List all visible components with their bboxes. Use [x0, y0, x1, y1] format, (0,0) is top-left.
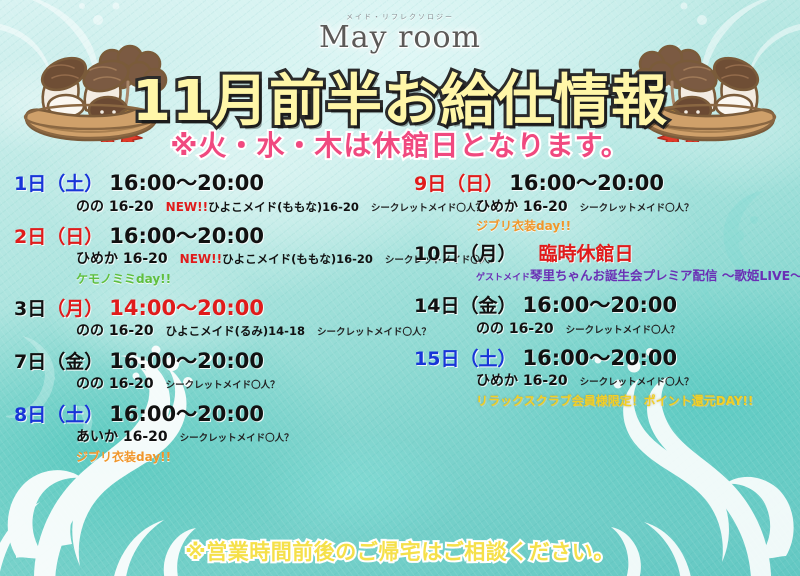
schedule-entry: 8日（土）16:00～20:00あいか 16-20シークレットメイド〇人？ジブリ…: [14, 403, 400, 465]
entry-staff-line: のの 16-20シークレットメイド〇人？: [414, 319, 800, 337]
entry-day-of-week: （土）: [46, 404, 103, 426]
secret-maid-note: シークレットメイド〇人？: [566, 325, 680, 336]
entry-hours: 16:00～20:00: [109, 349, 264, 373]
entry-day-of-week: （日）: [446, 173, 503, 195]
entry-event-note: リラックスクラブ会員様限定！ポイント還元DAY!!: [414, 392, 800, 409]
entry-event-note: ジブリ衣装day!!: [414, 217, 800, 234]
entry-maid-name: ひめか 16-20: [476, 199, 568, 215]
entry-date: 1日: [14, 173, 46, 195]
entry-date: 15日: [414, 348, 459, 370]
entry-hours: 16:00～20:00: [522, 293, 677, 317]
entry-day-of-week: （土）: [459, 348, 516, 370]
secret-maid-note: シークレットメイド〇人？: [180, 433, 294, 444]
entry-second-maid-name: ひよこメイド(ももな)16-20: [208, 200, 359, 214]
entry-day-of-week: （金）: [459, 295, 516, 317]
entry-hours: 16:00～20:00: [509, 171, 664, 195]
entry-hours: 14:00～20:00: [109, 296, 264, 320]
entry-day-of-week: （日）: [46, 226, 103, 248]
schedule-entry: 7日（金）16:00～20:00のの 16-20シークレットメイド〇人？: [14, 350, 400, 393]
secret-maid-note: シークレットメイド〇人？: [166, 380, 280, 391]
entry-hours: 16:00～20:00: [109, 402, 264, 426]
entry-hours: 16:00～20:00: [522, 346, 677, 370]
entry-header-line: 10日（月）臨時休館日: [414, 244, 800, 265]
entry-staff-line: のの 16-20シークレットメイド〇人？: [14, 374, 400, 392]
entry-day-of-week: （金）: [46, 351, 103, 373]
schedule-entry: 1日（土）16:00～20:00のの 16-20NEW!!ひよこメイド(ももな)…: [14, 172, 400, 215]
entry-header-line: 15日（土）16:00～20:00: [414, 347, 800, 371]
entry-header-line: 2日（日）16:00～20:00: [14, 225, 400, 249]
entry-header-line: 7日（金）16:00～20:00: [14, 350, 400, 374]
guest-event-text: 琴里ちゃんお誕生会プレミア配信 ～歌姫LIVE～: [530, 268, 800, 283]
entry-staff-line: のの 16-20ひよこメイド(るみ)14-18シークレットメイド〇人？: [14, 321, 400, 339]
entry-header-line: 1日（土）16:00～20:00: [14, 172, 400, 196]
schedule-entry: 10日（月）臨時休館日ゲストメイド琴里ちゃんお誕生会プレミア配信 ～歌姫LIVE…: [414, 244, 800, 284]
entry-staff-line: ゲストメイド琴里ちゃんお誕生会プレミア配信 ～歌姫LIVE～: [414, 266, 800, 284]
logo-wordmark: May room: [0, 20, 800, 55]
entry-maid-name: あいか 16-20: [76, 429, 168, 445]
entry-date: 7日: [14, 351, 46, 373]
entry-day-of-week: （月）: [46, 298, 103, 320]
entry-date: 8日: [14, 404, 46, 426]
entry-day-of-week: （土）: [46, 173, 103, 195]
schedule-entry: 15日（土）16:00～20:00ひめか 16-20シークレットメイド〇人？リラ…: [414, 347, 800, 409]
entry-header-line: 9日（日）16:00～20:00: [414, 172, 800, 196]
entry-event-note: ジブリ衣装day!!: [14, 448, 400, 465]
entry-date: 3日: [14, 298, 46, 320]
schedule-entry: 14日（金）16:00～20:00のの 16-20シークレットメイド〇人？: [414, 294, 800, 337]
secret-maid-note: シークレットメイド〇人？: [580, 377, 694, 388]
entry-header-line: 3日（月）14:00～20:00: [14, 297, 400, 321]
guest-maid-prefix: ゲストメイド: [476, 273, 530, 283]
entry-hours: 16:00～20:00: [109, 224, 264, 248]
schedule-entry: 3日（月）14:00～20:00のの 16-20ひよこメイド(るみ)14-18シ…: [14, 297, 400, 340]
entry-header-line: 8日（土）16:00～20:00: [14, 403, 400, 427]
entry-maid-name: のの 16-20: [476, 321, 554, 337]
entry-second-maid-name: ひよこメイド(るみ)14-18: [166, 324, 305, 338]
new-badge: NEW!!: [180, 252, 222, 266]
entry-event-note: ケモノミミday!!: [14, 270, 400, 287]
entry-hours: 16:00～20:00: [109, 171, 264, 195]
schedule-entry: 9日（日）16:00～20:00ひめか 16-20シークレットメイド〇人？ジブリ…: [414, 172, 800, 234]
entry-day-of-week: （月）: [459, 243, 516, 265]
entry-header-line: 14日（金）16:00～20:00: [414, 294, 800, 318]
entry-maid-name: のの 16-20: [76, 323, 154, 339]
schedule-columns: 1日（土）16:00～20:00のの 16-20NEW!!ひよこメイド(ももな)…: [0, 172, 800, 475]
secret-maid-note: シークレットメイド〇人？: [580, 203, 694, 214]
entry-staff-line: ひめか 16-20シークレットメイド〇人？: [414, 197, 800, 215]
poster-root: メイド・リフレクソロジー May room 11月前半お給仕情報 ※火・水・木は…: [0, 0, 800, 576]
schedule-entry: 2日（日）16:00～20:00ひめか 16-20NEW!!ひよこメイド(ももな…: [14, 225, 400, 287]
schedule-column-right: 9日（日）16:00～20:00ひめか 16-20シークレットメイド〇人？ジブリ…: [400, 172, 800, 475]
entry-staff-line: ひめか 16-20シークレットメイド〇人？: [414, 371, 800, 389]
entry-date: 14日: [414, 295, 459, 317]
entry-maid-name: ひめか 16-20: [76, 251, 168, 267]
entry-date: 9日: [414, 173, 446, 195]
entry-maid-name: のの 16-20: [76, 199, 154, 215]
entry-maid-name: ひめか 16-20: [476, 373, 568, 389]
entry-second-maid-name: ひよこメイド(ももな)16-20: [222, 252, 373, 266]
footer-note: ※営業時間前後のご帰宅はご相談ください。: [0, 536, 800, 566]
entry-staff-line: あいか 16-20シークレットメイド〇人？: [14, 427, 400, 445]
entry-closed-label: 臨時休館日: [538, 243, 633, 265]
schedule-column-left: 1日（土）16:00～20:00のの 16-20NEW!!ひよこメイド(ももな)…: [0, 172, 400, 475]
entry-date: 10日: [414, 243, 459, 265]
shop-logo: メイド・リフレクソロジー May room: [0, 12, 800, 55]
new-badge: NEW!!: [166, 200, 208, 214]
closed-days-subtitle: ※火・水・木は休館日となります。: [0, 124, 800, 164]
entry-staff-line: ひめか 16-20NEW!!ひよこメイド(ももな)16-20シークレットメイド〇…: [14, 249, 400, 267]
entry-maid-name: のの 16-20: [76, 376, 154, 392]
entry-staff-line: のの 16-20NEW!!ひよこメイド(ももな)16-20シークレットメイド〇人…: [14, 197, 400, 215]
entry-date: 2日: [14, 226, 46, 248]
